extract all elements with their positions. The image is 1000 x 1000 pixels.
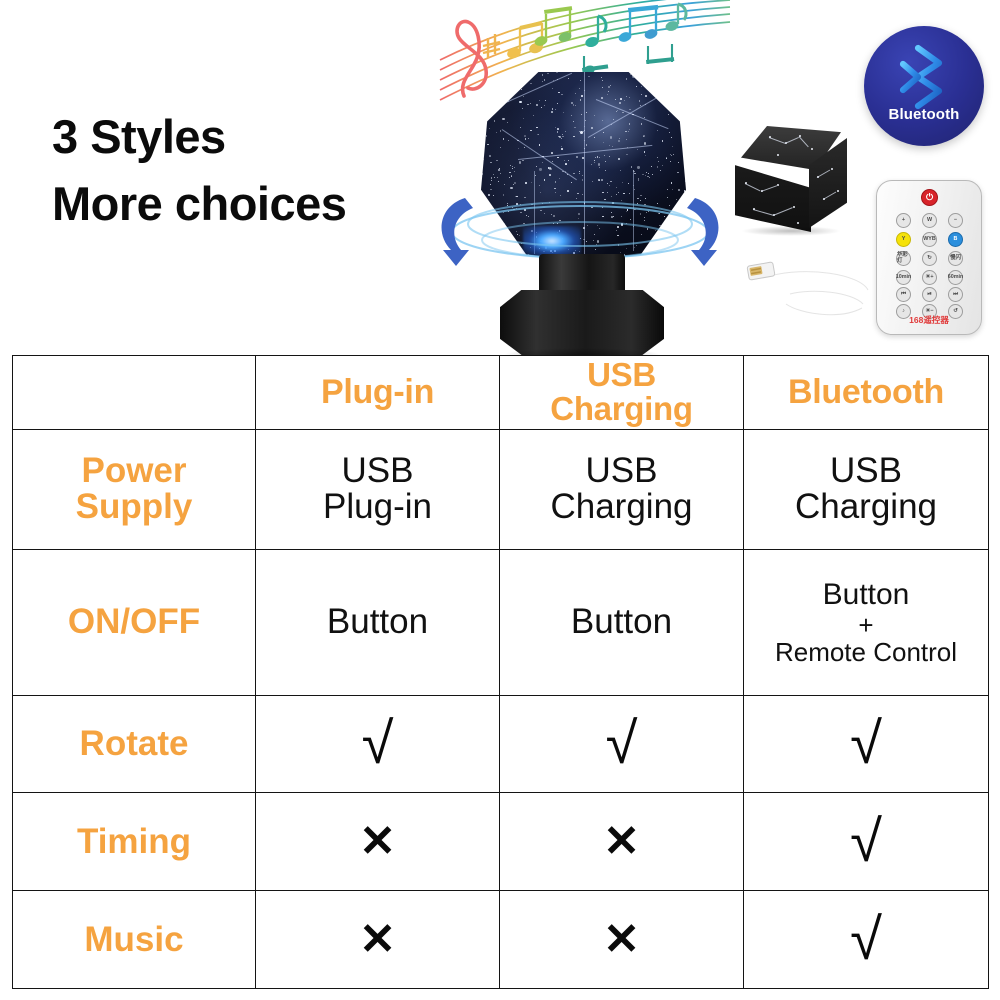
cell-music-plug-in: ✕	[256, 891, 500, 989]
remote-button-w: W	[922, 213, 937, 228]
remote-button-slowflash: 慢闪	[948, 251, 963, 266]
remote-control-image: ⏻ + W − Y WYB B 华彩灯 ↻ 慢闪 10min ☀+ 60min …	[876, 180, 982, 335]
check-mark-icon: √	[606, 711, 638, 776]
remote-button-prev: ⏮	[896, 287, 911, 302]
row-label-rotate-line-1: Rotate	[16, 726, 252, 762]
cross-mark-icon: ✕	[603, 915, 640, 964]
table-row-rotate: Rotate √ √ √	[13, 695, 989, 793]
remote-button-rotate: ↻	[922, 251, 937, 266]
remote-button-play: ⏯	[922, 287, 937, 302]
cell-rotate-usb-charging: √	[500, 695, 744, 793]
column-header-bluetooth: Bluetooth	[744, 356, 989, 430]
page-title: 3 Styles More choices	[52, 104, 432, 237]
column-header-usb-charging-line-1: USB	[503, 358, 740, 392]
cell-timing-usb-charging: ✕	[500, 793, 744, 891]
check-mark-icon: √	[362, 711, 394, 776]
column-header-plug-in-line-1: Plug-in	[259, 375, 496, 409]
row-label-timing: Timing	[13, 793, 256, 891]
comparison-table: Plug-in USB Charging Bluetooth Power Sup…	[12, 355, 989, 989]
row-label-power-supply-line-1: Power	[16, 453, 252, 489]
check-mark-icon: √	[850, 907, 882, 972]
table-row-timing: Timing ✕ ✕ √	[13, 793, 989, 891]
cell-power-supply-bluetooth: USB Charging	[744, 429, 989, 550]
table-row-on-off: ON/OFF Button Button Button + Remote Con…	[13, 550, 989, 695]
cell-on-off-usb-charging: Button	[500, 550, 744, 695]
cell-rotate-plug-in: √	[256, 695, 500, 793]
remote-button-timer-10min: 10min	[896, 270, 911, 285]
remote-button-timer-60min: 60min	[948, 270, 963, 285]
remote-button-colorlight: 华彩灯	[896, 251, 911, 266]
cell-music-usb-charging: ✕	[500, 891, 744, 989]
giftbox-shadow	[741, 226, 841, 236]
cell-power-supply-usb-charging-line-2: Charging	[503, 489, 740, 525]
table-corner-cell	[13, 356, 256, 430]
constellation-gift-box-image	[735, 126, 847, 236]
cell-on-off-bluetooth-line-2: +	[747, 612, 985, 638]
table-row-music: Music ✕ ✕ √	[13, 891, 989, 989]
cell-timing-bluetooth: √	[744, 793, 989, 891]
column-header-usb-charging: USB Charging	[500, 356, 744, 430]
cell-timing-plug-in: ✕	[256, 793, 500, 891]
table-header-row: Plug-in USB Charging Bluetooth	[13, 356, 989, 430]
cell-music-bluetooth: √	[744, 891, 989, 989]
remote-model-label: 168遥控器	[877, 314, 981, 326]
check-mark-icon: √	[850, 711, 882, 776]
cross-mark-icon: ✕	[603, 817, 640, 866]
headline-line-1: 3 Styles	[52, 110, 226, 163]
column-header-plug-in: Plug-in	[256, 356, 500, 430]
row-label-timing-line-1: Timing	[16, 824, 252, 860]
table-row-power-supply: Power Supply USB Plug-in USB Charging US…	[13, 429, 989, 550]
cell-power-supply-bluetooth-line-1: USB	[747, 453, 985, 489]
column-header-bluetooth-line-1: Bluetooth	[747, 375, 985, 409]
cell-on-off-bluetooth-line-3: Remote Control	[747, 638, 985, 667]
row-label-on-off: ON/OFF	[13, 550, 256, 695]
cell-power-supply-plug-in-line-2: Plug-in	[259, 489, 496, 525]
bluetooth-badge: Bluetooth	[864, 26, 984, 146]
row-label-power-supply: Power Supply	[13, 429, 256, 550]
row-label-power-supply-line-2: Supply	[16, 489, 252, 525]
column-header-usb-charging-line-2: Charging	[503, 392, 740, 426]
cell-power-supply-plug-in-line-1: USB	[259, 453, 496, 489]
remote-button-yellow: Y	[896, 232, 911, 247]
usb-cable-image	[742, 246, 892, 344]
cell-power-supply-plug-in: USB Plug-in	[256, 429, 500, 550]
check-mark-icon: √	[850, 809, 882, 874]
cross-mark-icon: ✕	[359, 817, 396, 866]
row-label-rotate: Rotate	[13, 695, 256, 793]
cell-on-off-plug-in-line-1: Button	[259, 604, 496, 640]
remote-button-plus: +	[896, 213, 911, 228]
cell-power-supply-bluetooth-line-2: Charging	[747, 489, 985, 525]
remote-button-wyb: WYB	[922, 232, 937, 247]
remote-button-bright-up: ☀+	[922, 270, 937, 285]
row-label-music-line-1: Music	[16, 922, 252, 958]
hero-section: 3 Styles More choices	[0, 0, 1000, 356]
cell-power-supply-usb-charging-line-1: USB	[503, 453, 740, 489]
star-projector-lamp-image	[443, 58, 718, 356]
headline-line-2: More choices	[52, 171, 432, 238]
remote-button-minus: −	[948, 213, 963, 228]
remote-button-blue: B	[948, 232, 963, 247]
row-label-music: Music	[13, 891, 256, 989]
cell-power-supply-usb-charging: USB Charging	[500, 429, 744, 550]
cross-mark-icon: ✕	[359, 915, 396, 964]
product-comparison-page: 3 Styles More choices	[0, 0, 1000, 1000]
remote-button-power: ⏻	[921, 189, 938, 206]
cell-rotate-bluetooth: √	[744, 695, 989, 793]
bluetooth-badge-label: Bluetooth	[864, 106, 984, 123]
row-label-on-off-line-1: ON/OFF	[16, 604, 252, 640]
cell-on-off-plug-in: Button	[256, 550, 500, 695]
projector-base	[500, 290, 664, 356]
cell-on-off-bluetooth: Button + Remote Control	[744, 550, 989, 695]
cell-on-off-bluetooth-line-1: Button	[747, 578, 985, 612]
cell-on-off-usb-charging-line-1: Button	[503, 604, 740, 640]
remote-button-next: ⏭	[948, 287, 963, 302]
bluetooth-icon	[895, 44, 953, 110]
